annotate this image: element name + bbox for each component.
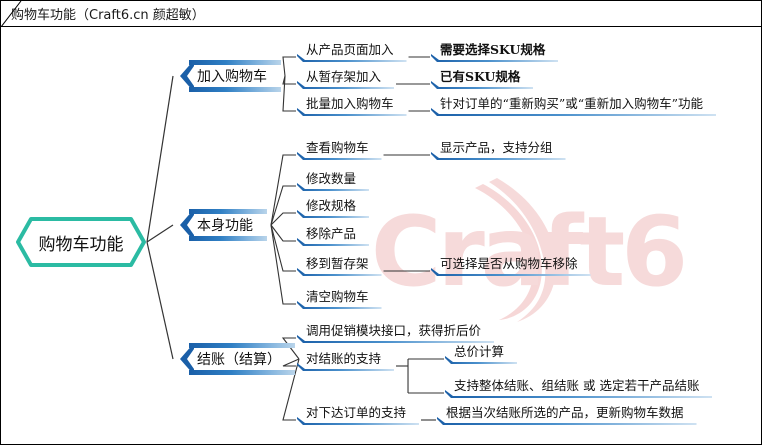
mindmap-leaf-node[interactable]: 从暂存架加入 [297, 67, 394, 89]
mindmap-leaf-label: 修改规格 [306, 195, 356, 214]
mindmap-leaf-label: 对结账的支持 [306, 348, 381, 367]
mindmap-leaf-node[interactable]: 调用促销模块接口，获得折后价 [297, 321, 494, 343]
mindmap-leaf-label: 支持整体结账、组结账 或 选定若干产品结账 [454, 375, 699, 394]
mindmap-leaf-node[interactable]: 对结账的支持 [297, 349, 394, 371]
mindmap-leaf-node[interactable]: 已有SKU规格 [431, 67, 533, 89]
mindmap-leaf-node[interactable]: 对下达订单的支持 [297, 403, 419, 425]
document-title-tab[interactable]: 购物车功能（Craft6.cn 颜超敏） [1, 1, 231, 26]
mindmap-leaf-label: 查看购物车 [306, 137, 369, 156]
mindmap-leaf-node[interactable]: 移到暂存架 [297, 254, 382, 276]
mindmap-leaf-label: 清空购物车 [306, 286, 369, 305]
mindmap-leaf-label: 可选择是否从购物车移除 [440, 253, 578, 272]
mindmap-leaf-node[interactable]: 清空购物车 [297, 287, 382, 309]
mindmap-leaf-label: 从暂存架加入 [306, 66, 381, 85]
branch-bar-bottom [189, 87, 281, 92]
branch-bar-top [189, 343, 295, 348]
mindmap-leaf-label: 根据当次结账所选的产品，更新购物车数据 [446, 402, 684, 421]
mindmap-leaf-node[interactable]: 修改规格 [297, 196, 369, 218]
mindmap-leaf-label: 显示产品，支持分组 [440, 137, 553, 156]
mindmap-leaf-node[interactable]: 可选择是否从购物车移除 [431, 254, 591, 276]
mindmap-leaf-node[interactable]: 支持整体结账、组结账 或 选定若干产品结账 [445, 376, 712, 398]
mindmap-leaf-node[interactable]: 批量加入购物车 [297, 94, 407, 116]
mindmap-leaf-label: 移除产品 [306, 223, 356, 242]
mindmap-branch-node[interactable]: 结账（结算） [177, 342, 295, 376]
mindmap-leaf-node[interactable]: 显示产品，支持分组 [431, 138, 566, 160]
mindmap-leaf-node[interactable]: 需要选择SKU规格 [431, 40, 558, 62]
root-node[interactable]: 购物车功能 [15, 216, 147, 268]
mindmap-leaf-label: 总价计算 [454, 341, 504, 360]
branch-bar-top [189, 60, 281, 65]
mindmap-leaf-label: 移到暂存架 [306, 253, 369, 272]
mindmap-leaf-node[interactable]: 总价计算 [445, 342, 517, 364]
branch-bar-bottom [189, 236, 267, 241]
mindmap-branch-node[interactable]: 加入购物车 [177, 59, 281, 93]
document-title: 购物车功能（Craft6.cn 颜超敏） [11, 4, 205, 23]
mindmap-leaf-node[interactable]: 根据当次结账所选的产品，更新购物车数据 [437, 403, 697, 425]
mindmap-leaf-node[interactable]: 移除产品 [297, 224, 369, 246]
mindmap-leaf-node[interactable]: 针对订单的“重新购买”或“重新加入购物车”功能 [431, 94, 716, 116]
mindmap-leaf-label: 针对订单的“重新购买”或“重新加入购物车”功能 [440, 93, 703, 112]
mindmap-leaf-node[interactable]: 从产品页面加入 [297, 40, 407, 62]
branch-bar-bottom [189, 370, 295, 375]
mindmap-leaf-label: 调用促销模块接口，获得折后价 [306, 320, 481, 339]
mindmap-branch-label: 加入购物车 [177, 66, 275, 86]
mindmap-canvas: 购物车功能（Craft6.cn 颜超敏） Craft6 购物车功能 加入购物车从… [0, 0, 762, 445]
branch-bar-top [189, 209, 267, 214]
mindmap-branch-node[interactable]: 本身功能 [177, 208, 267, 242]
mindmap-leaf-label: 从产品页面加入 [306, 39, 394, 58]
mindmap-leaf-label: 需要选择SKU规格 [440, 39, 545, 58]
mindmap-branch-label: 结账（结算） [177, 349, 289, 369]
mindmap-branch-label: 本身功能 [177, 215, 261, 235]
mindmap-leaf-node[interactable]: 查看购物车 [297, 138, 382, 160]
mindmap-leaf-label: 批量加入购物车 [306, 93, 394, 112]
mindmap-leaf-node[interactable]: 修改数量 [297, 169, 369, 191]
mindmap-leaf-label: 对下达订单的支持 [306, 402, 406, 421]
root-node-label: 购物车功能 [15, 216, 147, 268]
mindmap-leaf-label: 已有SKU规格 [440, 66, 520, 85]
title-tab-divider [1, 26, 762, 27]
mindmap-leaf-label: 修改数量 [306, 168, 356, 187]
